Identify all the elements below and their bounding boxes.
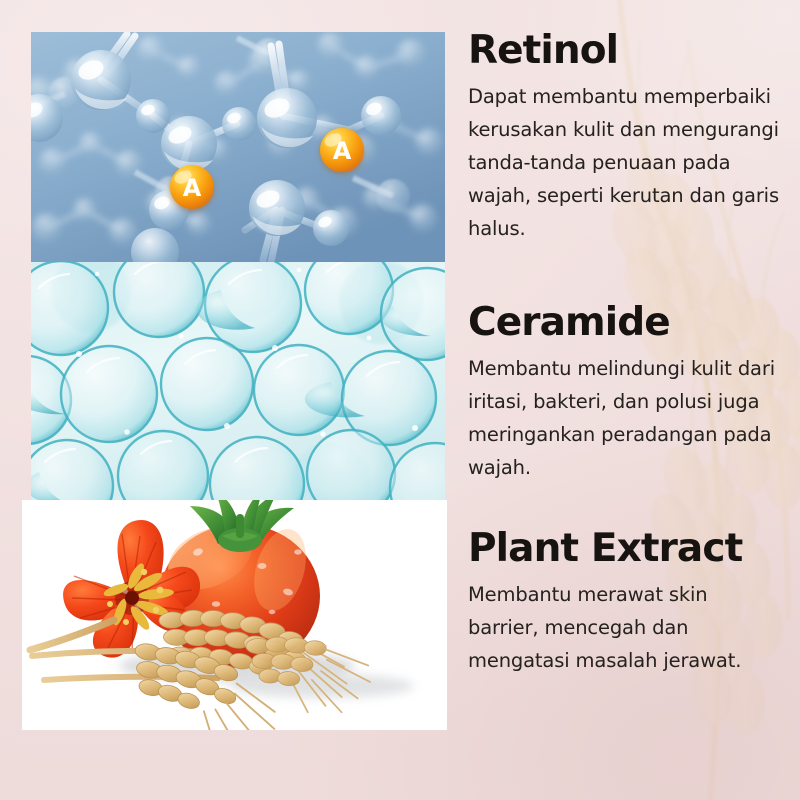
retinol-molecule-image: A A [31, 32, 445, 262]
plant-extract-image [22, 500, 447, 730]
ceramide-bubbles-image [31, 262, 445, 500]
vitamin-a-marker-right: A [320, 128, 364, 172]
plant-extract-body: Membantu merawat skin barrier, mencegah … [468, 578, 780, 677]
text-column: Retinol Dapat membantu memperbaiki kerus… [468, 0, 784, 800]
ceramide-body: Membantu melindungi kulit dari iritasi, … [468, 352, 780, 484]
vitamin-a-marker-left: A [170, 165, 214, 209]
section-ceramide: Ceramide Membantu melindungi kulit dari … [468, 300, 780, 484]
svg-text:A: A [333, 137, 352, 165]
plant-extract-heading: Plant Extract [468, 526, 780, 572]
retinol-body: Dapat membantu memperbaiki kerusakan kul… [468, 80, 780, 245]
ingredients-poster: A A [0, 0, 800, 800]
retinol-heading: Retinol [468, 28, 780, 74]
section-plant-extract: Plant Extract Membantu merawat skin barr… [468, 526, 780, 677]
section-retinol: Retinol Dapat membantu memperbaiki kerus… [468, 28, 780, 245]
ceramide-heading: Ceramide [468, 300, 780, 346]
svg-text:A: A [183, 174, 202, 202]
